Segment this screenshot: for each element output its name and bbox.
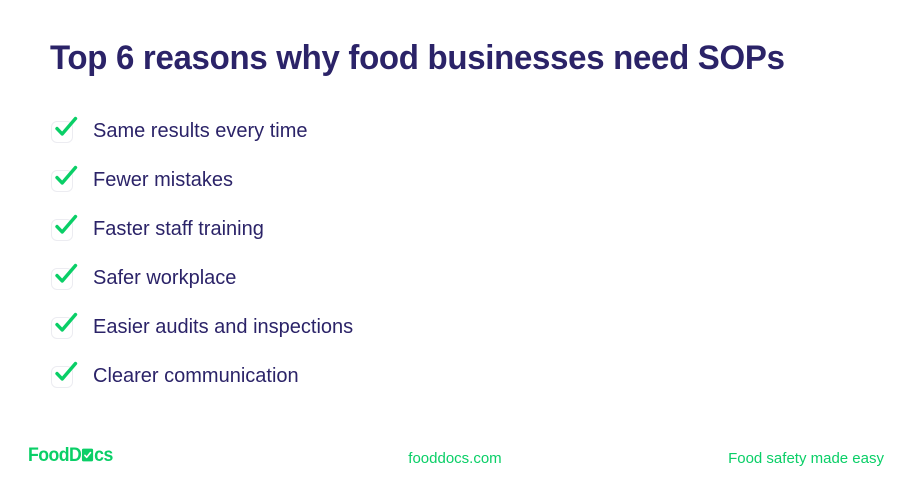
green-checkmark-icon	[50, 265, 76, 291]
green-checkmark-icon	[50, 167, 76, 193]
green-checkmark-icon	[50, 216, 76, 242]
list-item: Easier audits and inspections	[50, 302, 850, 351]
list-item: Faster staff training	[50, 204, 850, 253]
list-item: Fewer mistakes	[50, 155, 850, 204]
list-item-label: Fewer mistakes	[93, 167, 233, 193]
green-checkmark-icon	[50, 118, 76, 144]
green-checkmark-icon	[50, 314, 76, 340]
slide-canvas: Top 6 reasons why food businesses need S…	[0, 0, 910, 488]
list-item: Same results every time	[50, 106, 850, 155]
list-item-label: Safer workplace	[93, 265, 236, 291]
footer-tagline: Food safety made easy	[728, 449, 884, 469]
list-item: Safer workplace	[50, 253, 850, 302]
page-title: Top 6 reasons why food businesses need S…	[50, 36, 855, 80]
footer: FoodDcs fooddocs.com Food safety made ea…	[0, 444, 910, 478]
benefits-list: Same results every time Fewer mistakes F…	[50, 106, 850, 400]
list-item-label: Easier audits and inspections	[93, 314, 353, 340]
list-item: Clearer communication	[50, 351, 850, 400]
green-checkmark-icon	[50, 363, 76, 389]
list-item-label: Same results every time	[93, 118, 308, 144]
list-item-label: Clearer communication	[93, 363, 299, 389]
list-item-label: Faster staff training	[93, 216, 264, 242]
